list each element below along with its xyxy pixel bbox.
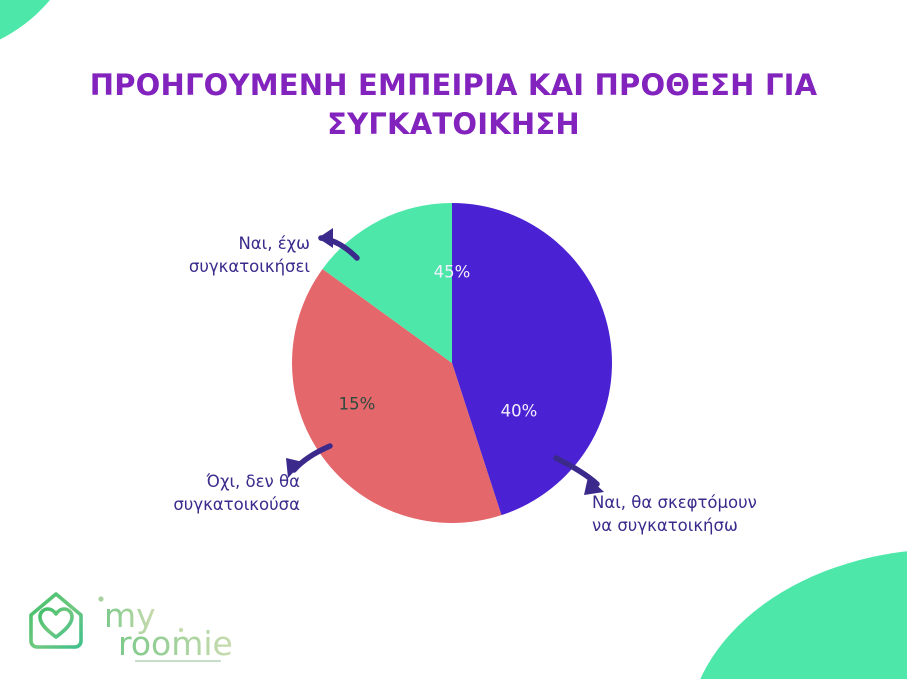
pie-value-label-40: 40% (501, 402, 538, 421)
slide-canvas: ΠΡΟΗΓΟΥΜΕΝΗ ΕΜΠΕΙΡΙΑ ΚΑΙ ΠΡΟΘΕΣΗ ΓΙΑ ΣΥΓ… (0, 0, 907, 679)
callout-yes-would-consider-line-1: Ναι, θα σκεφτόμουν (592, 491, 812, 514)
pie-value-label-15: 15% (339, 395, 376, 414)
pie-chart-svg (0, 0, 907, 679)
house-heart-icon (31, 594, 81, 647)
logo-dot-accent (98, 596, 103, 601)
logo-word-roomie: roomie (118, 624, 233, 663)
callout-no-would-not-line-1: Όχι, δεν θα (110, 470, 300, 493)
pie-chart: 45% 40% 15% (0, 0, 907, 679)
callout-no-would-not-line-2: συγκατοικούσα (110, 493, 300, 516)
pie-value-label-45: 45% (434, 263, 471, 282)
callout-no-would-not: Όχι, δεν θα συγκατοικούσα (110, 470, 300, 516)
callout-yes-would-consider: Ναι, θα σκεφτόμουν να συγκατοικήσω (592, 491, 812, 537)
callout-yes-have-cohabited-line-1: Ναι, έχω (120, 232, 310, 255)
pie-slices (292, 203, 612, 523)
callout-yes-have-cohabited-line-2: συγκατοικήσει (120, 255, 310, 278)
brand-logo[interactable]: my roomie (25, 585, 235, 665)
callout-yes-would-consider-line-2: να συγκατοικήσω (592, 514, 812, 537)
callout-yes-have-cohabited: Ναι, έχω συγκατοικήσει (120, 232, 310, 278)
brand-logo-svg: my roomie (25, 585, 235, 665)
